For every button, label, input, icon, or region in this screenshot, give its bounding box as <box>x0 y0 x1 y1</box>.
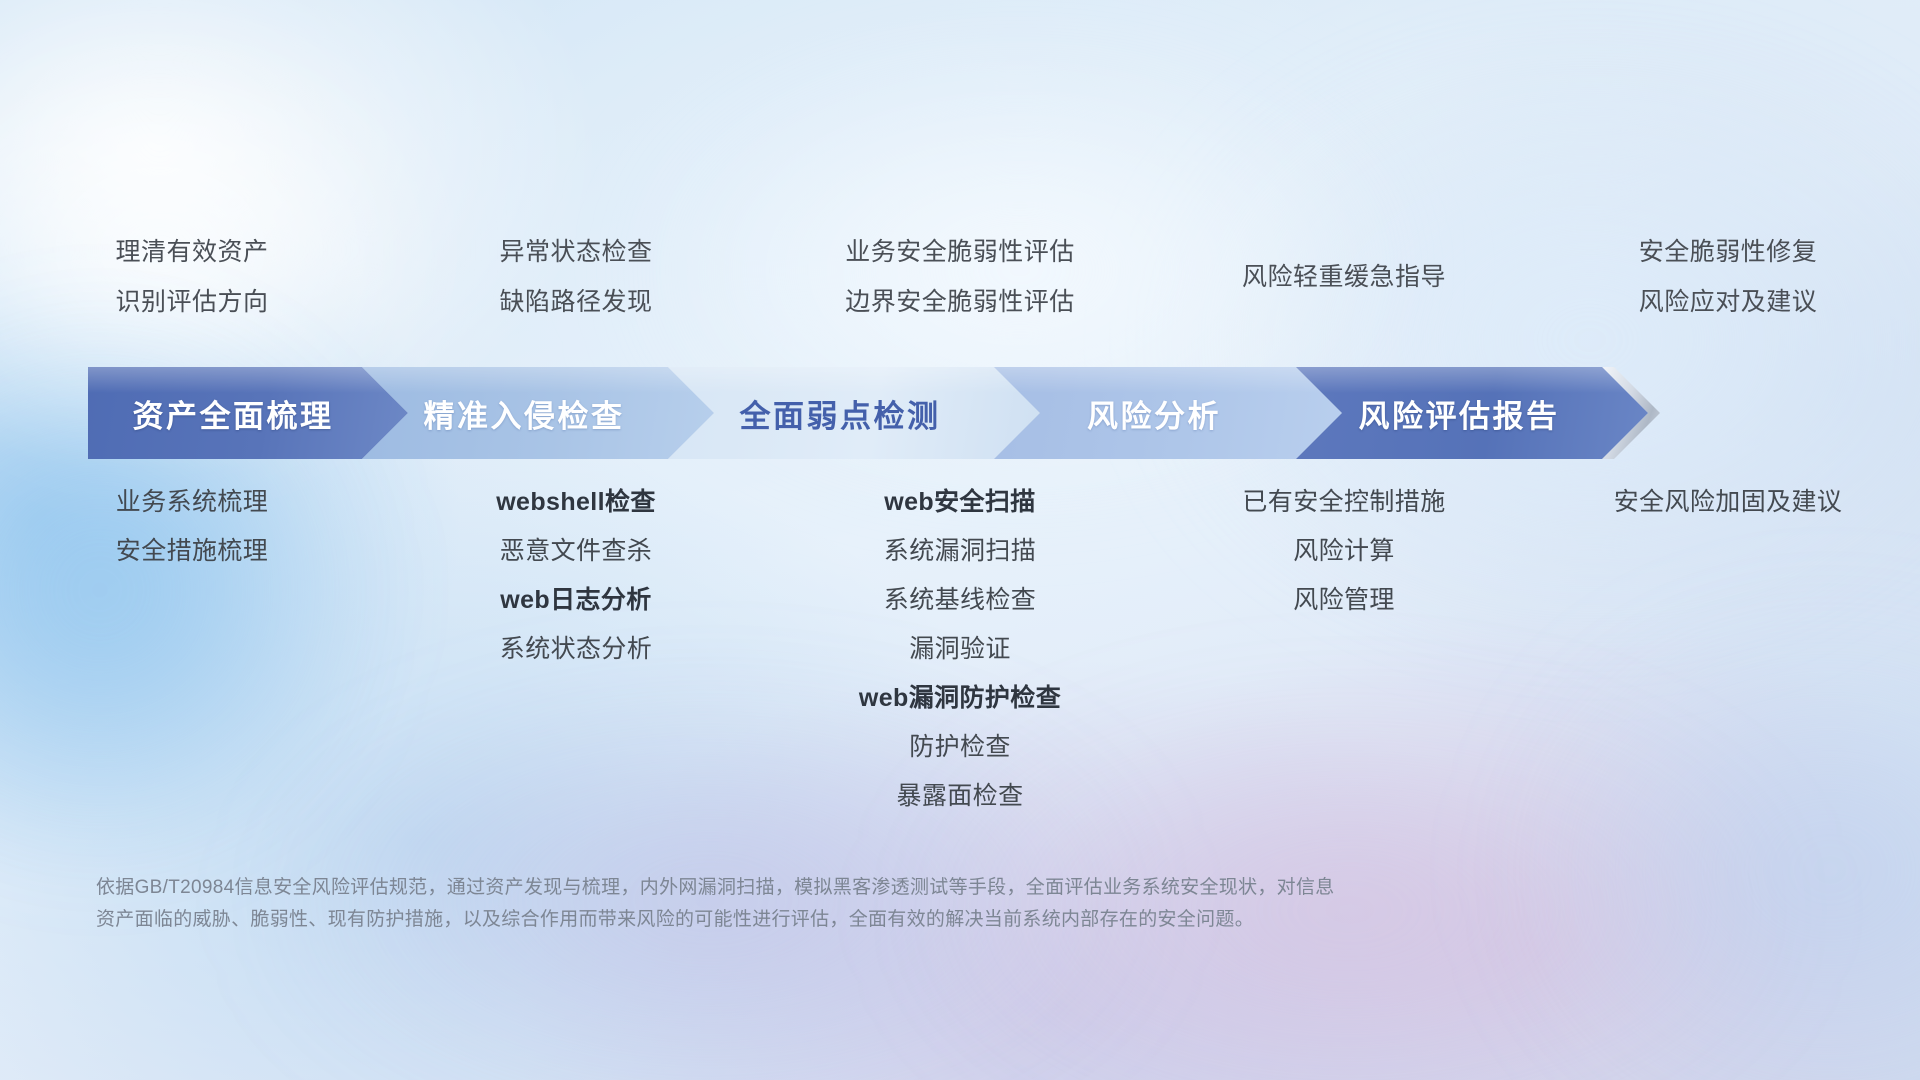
chevron-step-label: 风险评估报告 <box>1359 391 1560 436</box>
list-item: 已有安全控制措施 <box>1242 478 1445 527</box>
top-label-text: 安全脆弱性修复 <box>1639 227 1818 277</box>
chevron-step-2[interactable]: 精准入侵检查 <box>362 367 714 459</box>
list-item: 系统漏洞扫描 <box>884 527 1036 576</box>
chevron-step-5[interactable]: 风险评估报告 <box>1296 367 1648 459</box>
chevron-step-3[interactable]: 全面弱点检测 <box>668 367 1040 459</box>
top-label-text: 异常状态检查 <box>499 227 652 277</box>
list-item: 风险计算 <box>1293 527 1395 576</box>
list-item: 安全措施梳理 <box>116 527 268 576</box>
chevron-step-1[interactable]: 资产全面梳理 <box>88 367 408 459</box>
list-item: web漏洞防护检查 <box>859 674 1061 723</box>
list-item: 业务系统梳理 <box>116 478 268 527</box>
footer-line-2: 资产面临的威胁、脆弱性、现有防护措施，以及综合作用而带来风险的可能性进行评估，全… <box>96 904 1636 936</box>
top-label-text: 风险应对及建议 <box>1639 277 1818 327</box>
top-label-column-1: 理清有效资产 识别评估方向 <box>0 222 384 332</box>
top-label-row: 理清有效资产 识别评估方向 异常状态检查 缺陷路径发现 业务安全脆弱性评估 边界… <box>0 222 1920 332</box>
chevron-step-4[interactable]: 风险分析 <box>994 367 1342 459</box>
chevron-step-label: 资产全面梳理 <box>133 391 334 436</box>
detail-list-column-5: 安全风险加固及建议 <box>1536 478 1920 527</box>
top-label-text: 风险轻重缓急指导 <box>1242 252 1446 302</box>
detail-list-column-1: 业务系统梳理 安全措施梳理 <box>0 478 384 576</box>
slide-canvas: 理清有效资产 识别评估方向 异常状态检查 缺陷路径发现 业务安全脆弱性评估 边界… <box>0 0 1920 1080</box>
detail-list-column-4: 已有安全控制措施 风险计算 风险管理 <box>1152 478 1536 625</box>
detail-list-column-2: webshell检查 恶意文件查杀 web日志分析 系统状态分析 <box>384 478 768 674</box>
list-item: 风险管理 <box>1293 576 1395 625</box>
process-chevron-banner: 资产全面梳理 精准入侵检查 全面弱点检测 风险分析 风险评估报告 <box>88 367 1840 459</box>
chevron-step-label: 风险分析 <box>1087 391 1221 436</box>
list-item: web日志分析 <box>500 576 651 625</box>
top-label-text: 识别评估方向 <box>115 277 268 327</box>
top-label-column-3: 业务安全脆弱性评估 边界安全脆弱性评估 <box>768 222 1152 332</box>
top-label-text: 业务安全脆弱性评估 <box>845 227 1075 277</box>
detail-list-row: 业务系统梳理 安全措施梳理 webshell检查 恶意文件查杀 web日志分析 … <box>0 478 1920 821</box>
list-item: 漏洞验证 <box>909 625 1011 674</box>
top-label-column-2: 异常状态检查 缺陷路径发现 <box>384 222 768 332</box>
top-label-text: 边界安全脆弱性评估 <box>845 277 1075 327</box>
chevron-step-label: 全面弱点检测 <box>740 391 941 436</box>
list-item: webshell检查 <box>496 478 656 527</box>
footer-description: 依据GB/T20984信息安全风险评估规范，通过资产发现与梳理，内外网漏洞扫描，… <box>96 872 1636 936</box>
top-label-column-5: 安全脆弱性修复 风险应对及建议 <box>1536 222 1920 332</box>
chevron-step-label: 精准入侵检查 <box>424 391 625 436</box>
list-item: 恶意文件查杀 <box>500 527 652 576</box>
list-item: 系统基线检查 <box>884 576 1036 625</box>
list-item: 暴露面检查 <box>896 772 1023 821</box>
top-label-text: 理清有效资产 <box>115 227 268 277</box>
list-item: web安全扫描 <box>884 478 1035 527</box>
list-item: 安全风险加固及建议 <box>1614 478 1843 527</box>
detail-list-column-3: web安全扫描 系统漏洞扫描 系统基线检查 漏洞验证 web漏洞防护检查 防护检… <box>768 478 1152 821</box>
top-label-text: 缺陷路径发现 <box>499 277 652 327</box>
list-item: 系统状态分析 <box>500 625 652 674</box>
footer-line-1: 依据GB/T20984信息安全风险评估规范，通过资产发现与梳理，内外网漏洞扫描，… <box>96 872 1636 904</box>
list-item: 防护检查 <box>909 723 1011 772</box>
top-label-column-4: 风险轻重缓急指导 <box>1152 222 1536 332</box>
